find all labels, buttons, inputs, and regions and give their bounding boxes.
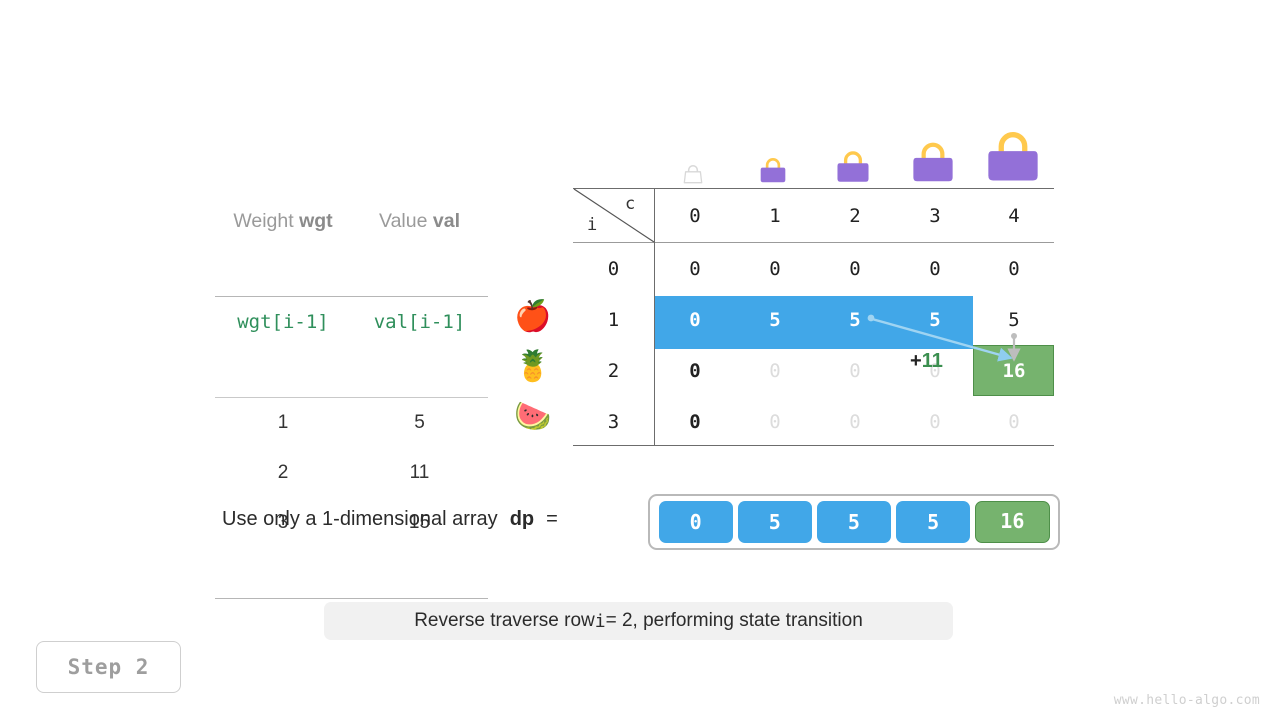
- dp1d-array: 0 5 5 5 16: [648, 494, 1060, 550]
- dp-cell-1-0: 0: [655, 295, 735, 345]
- dp-cell-1-2: 5: [815, 295, 895, 345]
- bag-icon-3: [893, 128, 973, 184]
- dp-cell-3-0: 0: [655, 397, 735, 447]
- dp-row-header-3: 3: [573, 397, 654, 447]
- bag-icon-3-glyph: [909, 141, 957, 184]
- items-code-value: val[i-1]: [351, 297, 488, 348]
- step-badge: Step 2: [36, 641, 181, 693]
- items-value-1: 5: [351, 398, 488, 449]
- dp-cell-1-3: 5: [895, 295, 975, 345]
- dp-cell-0-2: 0: [815, 244, 895, 294]
- items-rule-top: [215, 246, 488, 297]
- dp-cell-2-1: 0: [735, 346, 815, 396]
- dp-table-rule-top: [573, 188, 1054, 189]
- dp-row-header-0: 0: [573, 244, 654, 294]
- value-gain-plus: +: [910, 350, 922, 372]
- caption-before: Reverse traverse row: [414, 610, 595, 632]
- apple-icon: 🍎: [512, 296, 554, 338]
- dp-col-header-2: 2: [815, 198, 895, 234]
- items-value-2: 11: [351, 448, 488, 498]
- items-header-value-text: Value: [379, 210, 427, 232]
- dp-cell-1-1: 5: [735, 295, 815, 345]
- dp-cell-3-2: 0: [815, 397, 895, 447]
- dp-table-rule-header: [573, 242, 1054, 243]
- items-table: Weight wgt Value val wgt[i-1] val[i-1] 1…: [215, 196, 488, 599]
- items-code-weight: wgt[i-1]: [215, 297, 351, 348]
- dp-cell-2-4: 16: [974, 346, 1054, 396]
- bag-icon-empty-glyph: [682, 164, 704, 184]
- caption-banner: Reverse traverse row i = 2, performing s…: [324, 602, 953, 640]
- dp1d-cell-3: 5: [896, 501, 970, 543]
- items-code-row: wgt[i-1] val[i-1]: [215, 297, 488, 348]
- items-table-grid: Weight wgt Value val wgt[i-1] val[i-1] 1…: [215, 196, 488, 599]
- bag-icon-2: [813, 128, 893, 184]
- dp-corner-diagonal-icon: [573, 188, 655, 243]
- bag-icon-2-glyph: [834, 150, 872, 184]
- value-gain-annotation: +11: [910, 350, 943, 373]
- dp-cell-0-4: 0: [974, 244, 1054, 294]
- dp-corner-col-axis: c: [625, 194, 635, 214]
- items-rule-bottom: [215, 548, 488, 599]
- items-rule-mid: [215, 347, 488, 398]
- items-table-header-row: Weight wgt Value val: [215, 196, 488, 246]
- dp-cell-1-4: 5: [974, 295, 1054, 345]
- caption-after: = 2, performing state transition: [606, 610, 863, 632]
- dp1d-cell-4: 16: [975, 501, 1049, 543]
- dp-row-header-1: 1: [573, 295, 654, 345]
- dp1d-variable-name: dp: [510, 508, 534, 530]
- dp-cell-3-4: 0: [974, 397, 1054, 447]
- items-header-weight-code: wgt: [299, 210, 333, 232]
- dp-col-header-4: 4: [974, 198, 1054, 234]
- bag-icon-1-glyph: [758, 157, 788, 184]
- bag-icon-1: [733, 128, 813, 184]
- dp-col-header-0: 0: [655, 198, 735, 234]
- dp-cell-2-0: 0: [655, 346, 735, 396]
- dp-table: c i 0 1 2 3 4 0 1 2 3 0 0 0 0 0 0 5 5 5 …: [573, 188, 1054, 446]
- watermelon-icon: 🍉: [512, 396, 554, 438]
- items-header-value: Value val: [351, 196, 488, 246]
- dp1d-cell-2: 5: [817, 501, 891, 543]
- dp-cell-0-0: 0: [655, 244, 735, 294]
- dp-col-header-1: 1: [735, 198, 815, 234]
- dp-corner-row-axis: i: [587, 215, 597, 235]
- items-row-2: 2 11: [215, 448, 488, 498]
- dp-cell-0-1: 0: [735, 244, 815, 294]
- bag-icon-empty: [653, 128, 733, 184]
- items-header-weight-text: Weight: [233, 210, 293, 232]
- items-header-weight: Weight wgt: [215, 196, 351, 246]
- dp1d-label: Use only a 1-dimensional arraydp=: [222, 508, 558, 531]
- dp1d-equals-sign: =: [546, 508, 558, 530]
- items-weight-2: 2: [215, 448, 351, 498]
- bag-icon-4: [973, 128, 1053, 184]
- pineapple-icon: 🍍: [512, 346, 554, 388]
- dp-cell-3-3: 0: [895, 397, 975, 447]
- items-header-value-code: val: [433, 210, 460, 232]
- dp-row-header-2: 2: [573, 346, 654, 396]
- bag-icon-4-glyph: [983, 130, 1043, 184]
- dp-cell-0-3: 0: [895, 244, 975, 294]
- dp1d-label-text: Use only a 1-dimensional array: [222, 508, 498, 530]
- caption-mono-var: i: [595, 611, 606, 632]
- dp-cell-2-2: 0: [815, 346, 895, 396]
- dp-cell-3-1: 0: [735, 397, 815, 447]
- value-gain-amount: 11: [922, 350, 943, 372]
- dp1d-cell-0: 0: [659, 501, 733, 543]
- dp-col-header-3: 3: [895, 198, 975, 234]
- watermark: www.hello-algo.com: [1114, 693, 1260, 708]
- dp1d-cell-1: 5: [738, 501, 812, 543]
- items-row-1: 1 5: [215, 398, 488, 449]
- items-weight-1: 1: [215, 398, 351, 449]
